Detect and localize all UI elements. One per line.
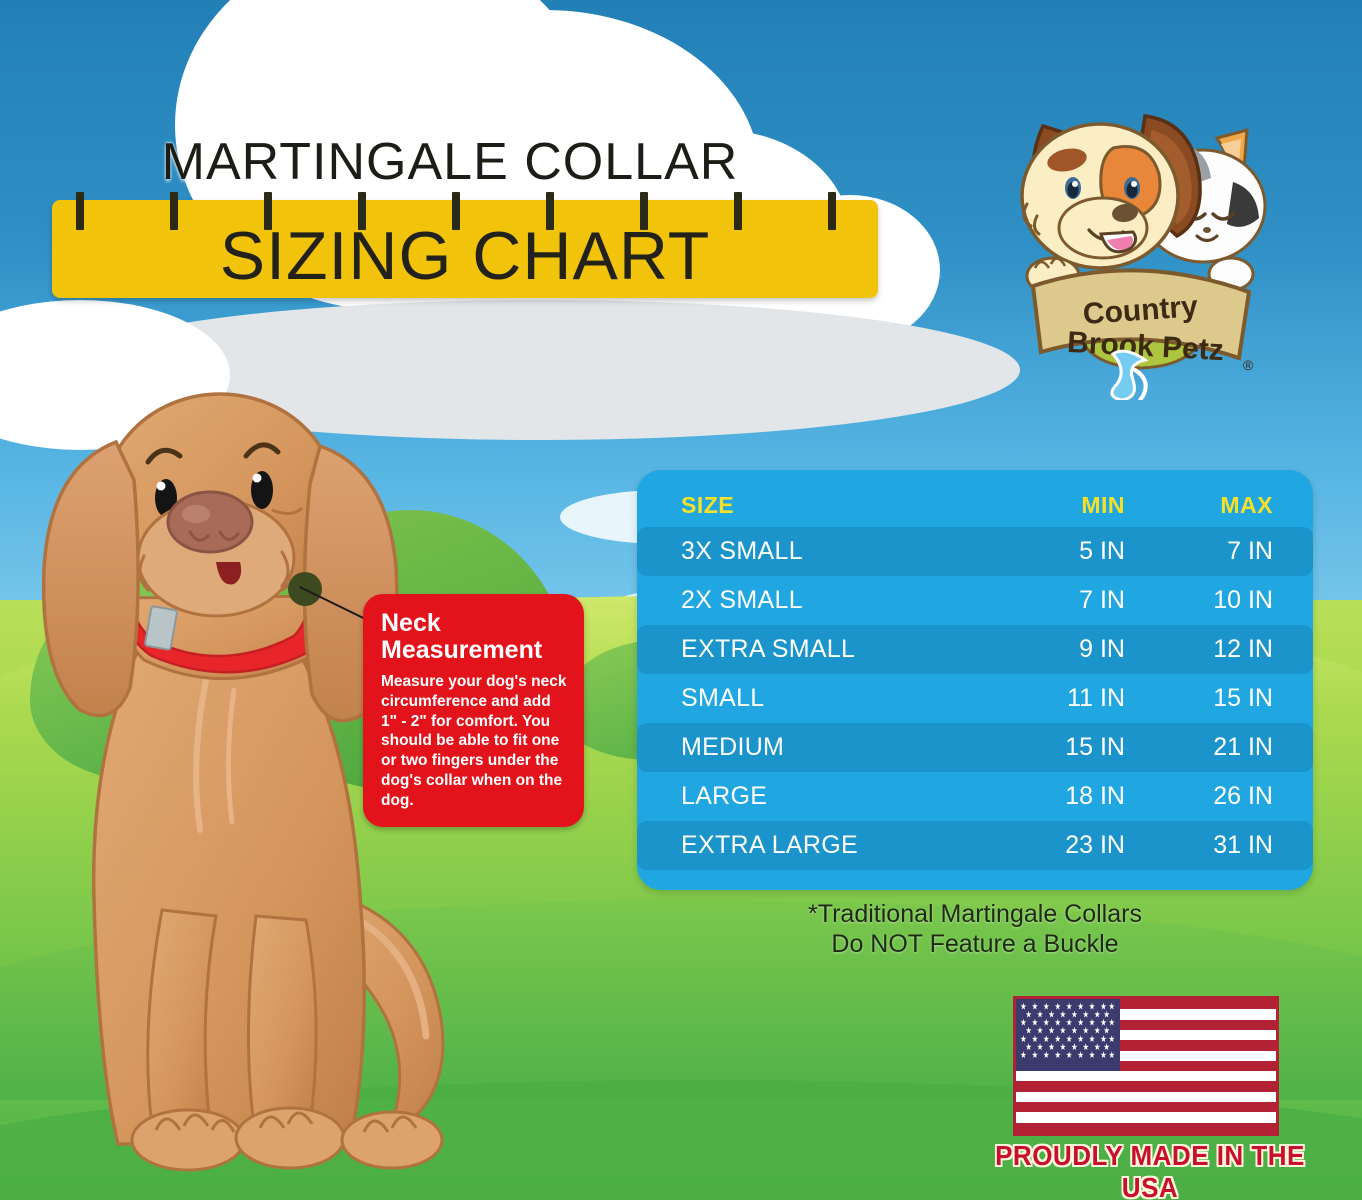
neck-measurement-callout: Neck Measurement Measure your dog's neck… bbox=[363, 594, 584, 827]
table-row: EXTRA SMALL 9 IN 12 IN bbox=[637, 625, 1313, 674]
svg-text:★: ★ bbox=[1066, 1049, 1073, 1060]
cell-min: 18 IN bbox=[1023, 772, 1173, 821]
cell-size: LARGE bbox=[637, 772, 1023, 821]
table-row: SMALL 11 IN 15 IN bbox=[637, 674, 1313, 723]
svg-text:★: ★ bbox=[1109, 1049, 1116, 1060]
svg-text:★: ★ bbox=[1032, 1049, 1039, 1060]
svg-text:★: ★ bbox=[1054, 1049, 1061, 1060]
table-header-row: SIZE MIN MAX bbox=[637, 470, 1313, 527]
cell-max: 21 IN bbox=[1173, 723, 1313, 772]
made-in-usa-text: PROUDLY MADE IN THE USA bbox=[964, 1140, 1336, 1200]
svg-text:★: ★ bbox=[1077, 1049, 1084, 1060]
table-row: 3X SMALL 5 IN 7 IN bbox=[637, 527, 1313, 576]
cell-min: 23 IN bbox=[1023, 821, 1173, 870]
cell-min: 9 IN bbox=[1023, 625, 1173, 674]
table-row: MEDIUM 15 IN 21 IN bbox=[637, 723, 1313, 772]
table-row: 2X SMALL 7 IN 10 IN bbox=[637, 576, 1313, 625]
dog-paw-right bbox=[236, 1108, 344, 1168]
dog-ear-left bbox=[44, 442, 139, 716]
buckle-footnote: *Traditional Martingale Collars Do NOT F… bbox=[637, 900, 1313, 959]
callout-body: Measure your dog's neck circumference an… bbox=[381, 672, 570, 811]
cell-min: 11 IN bbox=[1023, 674, 1173, 723]
cell-size: SMALL bbox=[637, 674, 1023, 723]
cell-max: 26 IN bbox=[1173, 772, 1313, 821]
column-header-max: MAX bbox=[1173, 470, 1313, 527]
svg-text:★: ★ bbox=[1043, 1049, 1050, 1060]
title-banner: SIZING CHART bbox=[52, 200, 878, 298]
sizing-table-panel: SIZE MIN MAX 3X SMALL 5 IN 7 IN 2X SMALL… bbox=[637, 470, 1313, 890]
svg-text:★: ★ bbox=[1100, 1049, 1107, 1060]
cell-size: 2X SMALL bbox=[637, 576, 1023, 625]
column-header-min: MIN bbox=[1023, 470, 1173, 527]
usa-flag: ★★★ ★★★ ★★★ ★★★ ★★★ ★★ ★★★ ★★★ ★★★ ★★★ ★… bbox=[1013, 996, 1279, 1136]
column-header-size: SIZE bbox=[637, 470, 1023, 527]
svg-text:★: ★ bbox=[1089, 1049, 1096, 1060]
dog-paw-rear bbox=[342, 1112, 442, 1168]
cell-min: 5 IN bbox=[1023, 527, 1173, 576]
cell-size: 3X SMALL bbox=[637, 527, 1023, 576]
flag-canton: ★★★ ★★★ ★★★ ★★★ ★★★ ★★ ★★★ ★★★ ★★★ ★★★ ★… bbox=[1016, 999, 1120, 1071]
sizing-table: SIZE MIN MAX 3X SMALL 5 IN 7 IN 2X SMALL… bbox=[637, 470, 1313, 870]
cell-size: EXTRA SMALL bbox=[637, 625, 1023, 674]
footnote-line-2: Do NOT Feature a Buckle bbox=[637, 930, 1313, 960]
cell-min: 7 IN bbox=[1023, 576, 1173, 625]
collar-slider bbox=[145, 606, 178, 650]
cell-size: EXTRA LARGE bbox=[637, 821, 1023, 870]
infographic-canvas: MARTINGALE COLLAR SIZING CHART bbox=[0, 0, 1362, 1200]
dog-nose bbox=[168, 492, 252, 552]
table-body: 3X SMALL 5 IN 7 IN 2X SMALL 7 IN 10 IN E… bbox=[637, 527, 1313, 870]
cell-max: 12 IN bbox=[1173, 625, 1313, 674]
page-subtitle: MARTINGALE COLLAR bbox=[0, 132, 900, 192]
page-title: SIZING CHART bbox=[52, 222, 878, 290]
footnote-line-1: *Traditional Martingale Collars bbox=[637, 900, 1313, 930]
cell-size: MEDIUM bbox=[637, 723, 1023, 772]
cell-max: 15 IN bbox=[1173, 674, 1313, 723]
cell-max: 7 IN bbox=[1173, 527, 1313, 576]
callout-heading: Neck Measurement bbox=[381, 610, 570, 663]
table-row: LARGE 18 IN 26 IN bbox=[637, 772, 1313, 821]
svg-text:★: ★ bbox=[1020, 1049, 1027, 1060]
cell-min: 15 IN bbox=[1023, 723, 1173, 772]
registered-mark: ® bbox=[1243, 357, 1254, 373]
country-brook-petz-logo: Country Brook Petz ® bbox=[985, 78, 1285, 400]
cell-max: 10 IN bbox=[1173, 576, 1313, 625]
cell-max: 31 IN bbox=[1173, 821, 1313, 870]
table-row: EXTRA LARGE 23 IN 31 IN bbox=[637, 821, 1313, 870]
